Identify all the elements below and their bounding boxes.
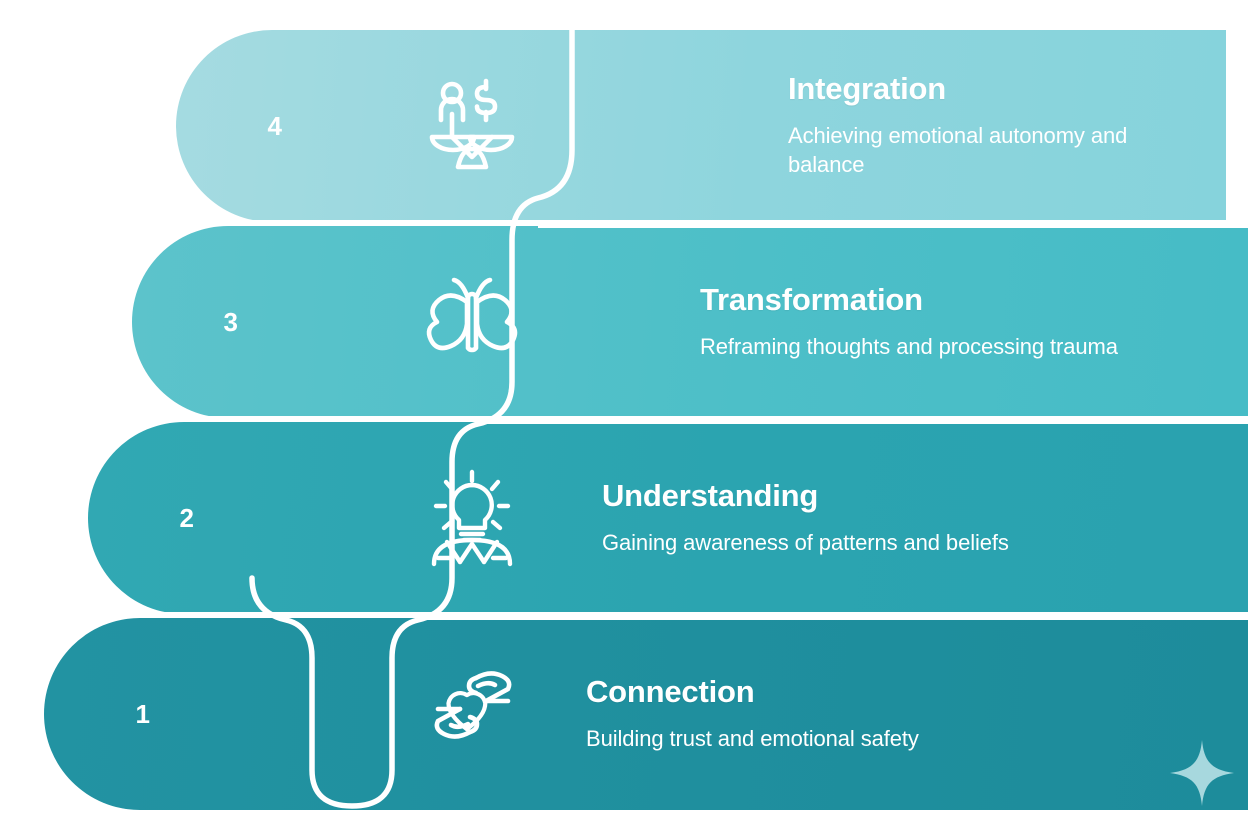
step-number-4: 4 [176,30,374,222]
step-number-2: 2 [88,422,286,614]
step-description-3: Reframing thoughts and processing trauma [700,332,1222,362]
infographic-canvas: 4 Integration Achieving emotional autono… [0,0,1248,832]
step-row-1[interactable]: 1 Connection Building trust and emotiona… [44,618,1248,810]
balance-scale-person-money-icon [374,30,570,222]
step-text-1: Connection Building trust and emotional … [586,618,1248,810]
step-number-1: 1 [44,618,242,810]
butterfly-icon [374,226,570,418]
step-number-3: 3 [132,226,330,418]
step-title-2: Understanding [602,479,1222,514]
step-row-3[interactable]: 3 Transformation Reframing thoughts and … [132,226,1248,418]
step-description-2: Gaining awareness of patterns and belief… [602,528,1162,558]
step-text-2: Understanding Gaining awareness of patte… [586,422,1248,614]
step-title-1: Connection [586,675,1222,710]
step-title-4: Integration [788,72,1200,107]
step-title-3: Transformation [700,283,1222,318]
hands-holding-heart-icon [374,618,570,810]
step-row-2[interactable]: 2 Understanding Gaining awareness [88,422,1248,614]
step-text-4: Integration Achieving emotional autonomy… [586,30,1226,222]
lightbulb-head-idea-icon [374,422,570,614]
sparkle-decoration [1170,740,1234,806]
step-description-1: Building trust and emotional safety [586,724,1146,754]
step-text-3: Transformation Reframing thoughts and pr… [586,226,1248,418]
step-row-4[interactable]: 4 Integration Achieving emotional autono… [176,30,1226,222]
step-description-4: Achieving emotional autonomy and balance [788,121,1200,180]
